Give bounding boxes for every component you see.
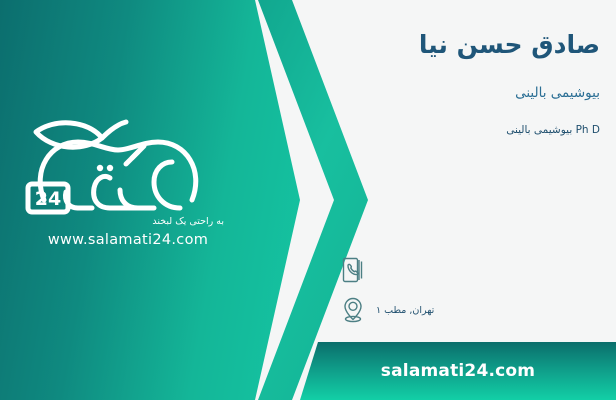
doctor-profile-card: 24 به راحتی یک لبخند www.salamati24.com … [0, 0, 616, 400]
location-pin-icon [338, 294, 368, 326]
footer-bar[interactable]: salamati24.com [300, 342, 616, 400]
contact-row-phone[interactable] [338, 250, 600, 290]
doctor-degree: Ph D بیوشیمی بالینی [338, 123, 600, 138]
profile-info: صادق حسن نیا بیوشیمی بالینی Ph D بیوشیمی… [338, 28, 600, 137]
logo-url: www.salamati24.com [14, 232, 242, 248]
doctor-name: صادق حسن نیا [338, 28, 600, 62]
contact-location-text: تهران, مطب ۱ [376, 305, 434, 316]
contact-list: تهران, مطب ۱ [338, 250, 600, 330]
logo-tagline: به راحتی یک لبخند [152, 216, 224, 227]
contact-row-location[interactable]: تهران, مطب ۱ [338, 290, 600, 330]
logo-badge-number: 24 [35, 188, 61, 210]
footer-site-url: salamati24.com [381, 361, 535, 381]
brand-logo: 24 به راحتی یک لبخند www.salamati24.com [14, 108, 242, 276]
phone-book-icon [338, 254, 368, 286]
doctor-specialty: بیوشیمی بالینی [338, 84, 600, 103]
